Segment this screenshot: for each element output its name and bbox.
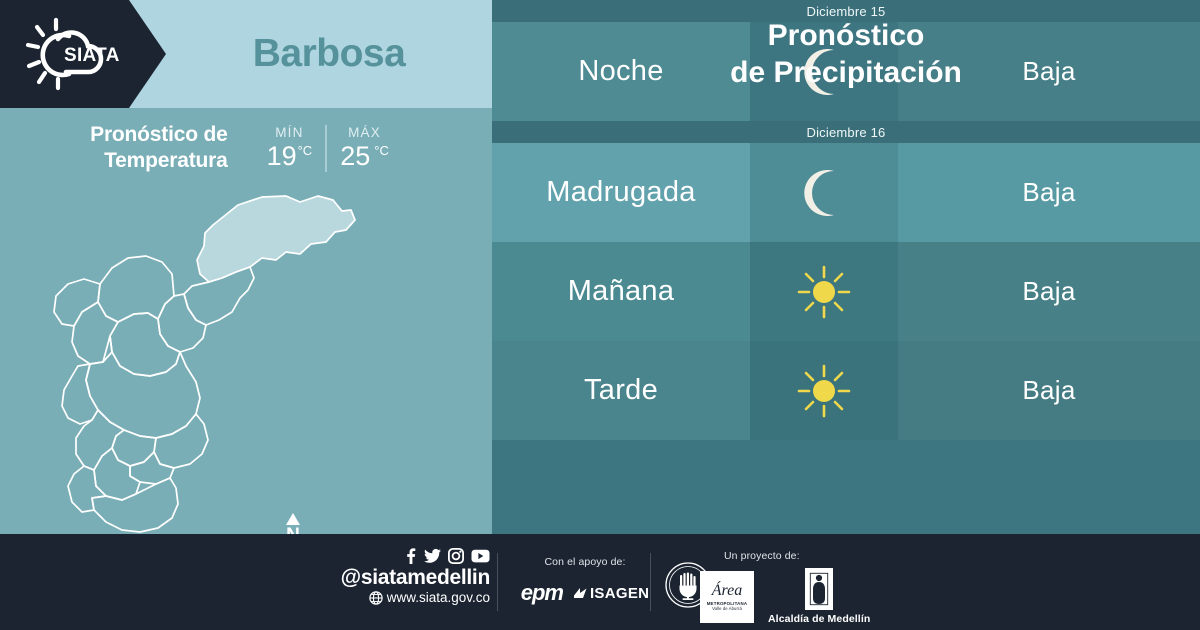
forecast-row-manana[interactable]: Mañana Ba [492, 242, 1200, 341]
moon-icon [796, 165, 852, 221]
social-handle[interactable]: @siatamedellin [330, 566, 490, 590]
area-script-text: Área [712, 583, 743, 599]
map-municipality-west-lower [62, 364, 98, 424]
compass-arrow-icon [286, 513, 300, 525]
sun-cloud-icon: SIATA [14, 14, 124, 94]
map-municipality-west-south [76, 410, 124, 470]
infographic-root: SIATA Barbosa Pronóstico de Temperatura … [0, 0, 1200, 630]
isagen-label: ISAGEN [590, 585, 649, 602]
map-municipality-southwest [68, 466, 106, 512]
temperature-max: MÁX 25°C [325, 125, 402, 172]
forecast-period-label: Mañana [568, 275, 675, 308]
social-icons [330, 548, 490, 564]
forecast-probability-cell: Baja [898, 242, 1200, 341]
map-municipality-la-estrella [94, 448, 140, 500]
isagen-logo[interactable]: ISAGEN [573, 585, 649, 602]
forecast-icon-cell [750, 341, 898, 440]
temperature-min-value-wrap: 19°C [267, 141, 313, 172]
temperature-max-value-wrap: 25°C [340, 141, 389, 172]
siata-logo-badge[interactable]: SIATA [0, 0, 166, 108]
forecast-row-tarde[interactable]: Tarde Baj [492, 341, 1200, 440]
alcaldia-label: Alcaldía de Medellín [768, 613, 870, 625]
project-block: Un proyecto de: Área METROPOLITANA Valle… [700, 550, 900, 625]
instagram-icon[interactable] [448, 548, 464, 564]
date-band-dec16: Diciembre 16 [492, 121, 1200, 143]
globe-icon [369, 591, 383, 605]
support-logos: epm ISAGEN [505, 580, 665, 606]
project-logos: Área METROPOLITANA Valle de Aburrá [700, 568, 900, 625]
youtube-icon[interactable] [471, 548, 490, 564]
forecast-period-cell: Mañana [492, 242, 750, 341]
map-municipality-northwest [98, 256, 174, 322]
valle-de-aburra-map[interactable]: N [0, 186, 492, 534]
social-block: @siatamedellin www.siata.gov.co [330, 548, 490, 605]
map-svg [0, 186, 492, 534]
forecast-probability-cell: Baja [898, 143, 1200, 242]
forecast-probability-label: Baja [1022, 177, 1075, 208]
temperature-min-label: MÍN [275, 125, 303, 140]
footer-divider-1 [497, 553, 498, 611]
sun-icon [796, 363, 852, 419]
sun-icon [796, 264, 852, 320]
map-municipality-far-west [54, 279, 100, 326]
forecast-icon-cell [750, 242, 898, 341]
forecast-icon-cell [750, 143, 898, 242]
forecast-period-cell: Madrugada [492, 143, 750, 242]
temperature-max-unit: °C [374, 143, 389, 158]
precipitation-title-line2: de Precipitación [730, 54, 962, 92]
temperature-max-label: MÁX [348, 125, 381, 140]
alcaldia-logo[interactable]: Alcaldía de Medellín [768, 568, 870, 625]
temperature-title: Pronóstico de Temperatura [90, 122, 227, 173]
area-sub2-text: Valle de Aburrá [712, 606, 742, 611]
support-block: Con el apoyo de: epm ISAGEN [505, 556, 665, 606]
website-url: www.siata.gov.co [387, 590, 490, 605]
map-municipality-barbosa [197, 196, 355, 282]
forecast-period-label: Tarde [584, 374, 658, 407]
temperature-min-value: 19 [267, 141, 297, 171]
temperature-max-value: 25 [340, 141, 370, 171]
forecast-period-cell: Tarde [492, 341, 750, 440]
alcaldia-mark-icon [805, 568, 833, 610]
precipitation-panel: Pronóstico de Precipitación Diciembre 15… [492, 0, 1200, 534]
forecast-row-madrugada[interactable]: Madrugada Baja [492, 143, 1200, 242]
isagen-mark-icon [573, 587, 588, 600]
precipitation-title-line1: Pronóstico [768, 17, 925, 55]
alcaldia-figure-icon [809, 572, 829, 606]
temperature-min-unit: °C [298, 143, 313, 158]
svg-text:SIATA: SIATA [64, 45, 120, 66]
forecast-probability-cell: Baja [898, 341, 1200, 440]
city-title: Barbosa [166, 0, 492, 108]
left-header: SIATA Barbosa [0, 0, 492, 108]
forecast-period-label: Madrugada [546, 176, 695, 209]
temperature-title-line2: Temperatura [90, 148, 227, 174]
support-caption: Con el apoyo de: [505, 556, 665, 568]
footer-divider-2 [650, 553, 651, 611]
temperature-summary: Pronóstico de Temperatura MÍN 19°C MÁX 2… [0, 108, 492, 188]
footer: @siatamedellin www.siata.gov.co Con el a… [0, 534, 1200, 630]
map-municipality-caldas [92, 478, 178, 532]
temperature-panel: SIATA Barbosa Pronóstico de Temperatura … [0, 0, 492, 534]
map-municipality-envigado [154, 414, 208, 468]
facebook-icon[interactable] [404, 548, 417, 564]
website-line[interactable]: www.siata.gov.co [330, 590, 490, 605]
temperature-title-line1: Pronóstico de [90, 122, 227, 148]
project-caption: Un proyecto de: [700, 550, 900, 562]
forecast-probability-label: Baja [1022, 276, 1075, 307]
twitter-icon[interactable] [424, 548, 441, 564]
map-municipality-west-edge [72, 302, 118, 364]
area-metropolitana-logo[interactable]: Área METROPOLITANA Valle de Aburrá [700, 571, 754, 623]
temperature-values: MÍN 19°C MÁX 25°C [254, 125, 402, 172]
temperature-min: MÍN 19°C [254, 125, 326, 172]
epm-logo[interactable]: epm [521, 580, 563, 606]
forecast-probability-label: Baja [1022, 375, 1075, 406]
precipitation-title: Pronóstico de Precipitación [492, 0, 1200, 108]
